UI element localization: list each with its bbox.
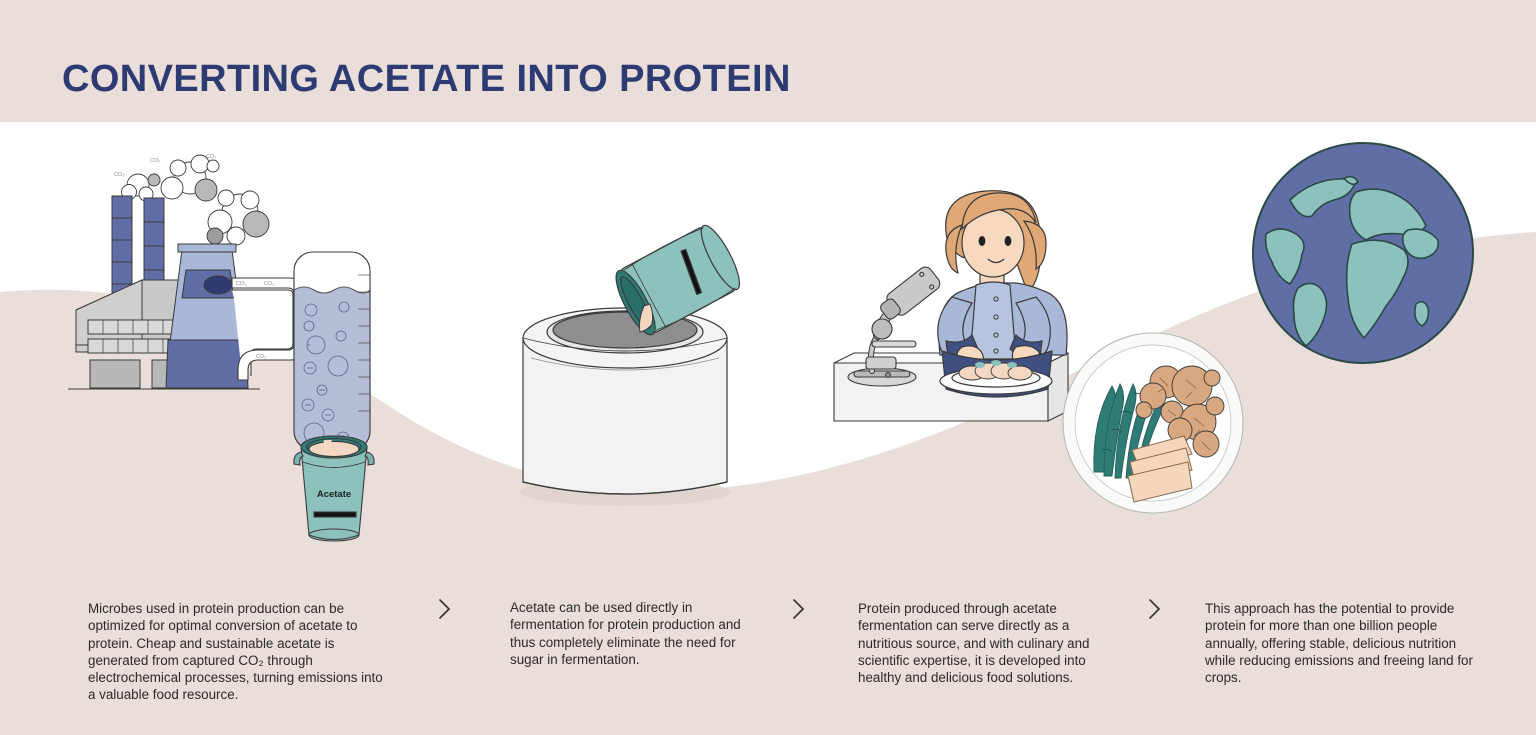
bucket-label: Acetate — [317, 489, 351, 500]
pipe-co2-label-1: CO₂ — [236, 281, 246, 287]
fermenter-illustration — [495, 210, 775, 510]
pipe-co2-label-5: CO₂ — [256, 354, 266, 360]
co2-label-1: CO₂ — [114, 172, 125, 178]
step-captions: Microbes used in protein production can … — [0, 586, 1536, 735]
caption-step-2: Acetate can be used directly in fermenta… — [510, 599, 748, 668]
co2-label-2: CO₂ — [150, 158, 161, 164]
caption-step-4: This approach has the potential to provi… — [1205, 600, 1473, 686]
plate-illustration — [1060, 330, 1246, 516]
infographic-canvas: CONVERTING ACETATE INTO PROTEIN CO₂ CO₂ … — [0, 0, 1536, 735]
page-title: CONVERTING ACETATE INTO PROTEIN — [62, 58, 791, 101]
globe-illustration — [1248, 138, 1478, 368]
caption-step-3: Protein produced through acetate ferment… — [858, 600, 1118, 686]
caption-step-1: Microbes used in protein production can … — [88, 600, 388, 704]
factory-illustration: CO₂ CO₂ CO₂ CO₂ — [60, 140, 430, 550]
pipe-co2-label-2: CO₂ — [264, 281, 274, 287]
chef-illustration — [820, 185, 1095, 425]
